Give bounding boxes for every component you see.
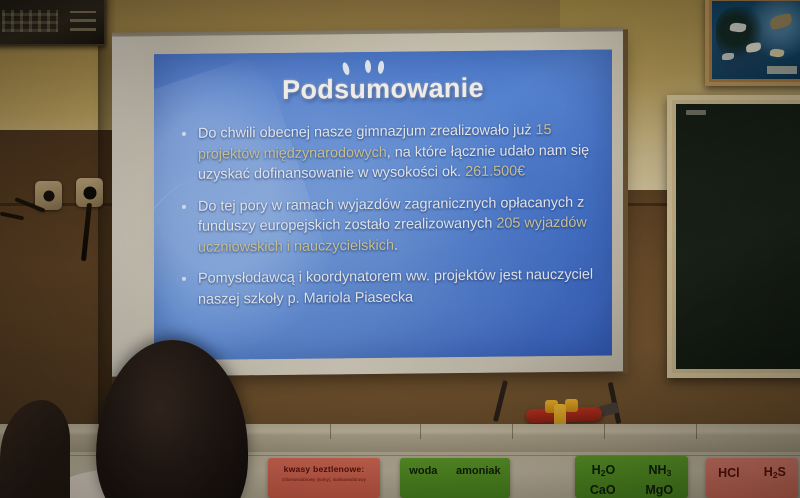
presentation-slide: Podsumowanie Do chwili obecnej nasze gim… <box>154 49 612 360</box>
panel-text-block <box>70 11 96 31</box>
chem-label-woda: woda <box>409 465 437 477</box>
desk-seam <box>330 424 331 439</box>
chem-poster-row-1: H2O NH3 <box>575 456 688 478</box>
chem-formula-h2o: H2O <box>592 463 616 478</box>
chem-formula-nh3: NH3 <box>649 463 672 478</box>
projection-screen: Podsumowanie Do chwili obecnej nasze gim… <box>112 31 624 376</box>
chem-poster-kwasy-beztlenowe: kwasy beztlenowe: chlorowodorowy (solny)… <box>268 458 380 498</box>
desk-seam <box>604 424 605 439</box>
fish-icon <box>722 53 734 60</box>
slide-bullet-1: Do chwili obecnej nasze gimnazjum zreali… <box>176 120 594 186</box>
slide-text-highlight: 261.500€ <box>465 163 525 180</box>
wall-display-panel <box>0 0 106 46</box>
chem-poster-subtext: chlorowodorowy (solny), siarkowodorowy <box>268 474 380 483</box>
slide-text-run: Do chwili obecnej nasze gimnazjum zreali… <box>198 122 536 142</box>
chem-formula-hcl: HCl <box>718 466 740 480</box>
chem-poster-kwasy-formuly: HCl H2S <box>706 458 798 498</box>
blackboard-clip <box>686 110 706 115</box>
blackboard-surface <box>676 104 800 369</box>
chem-formula-h2s: H2S <box>764 465 786 480</box>
chem-poster-row-2: CaO MgO <box>575 478 688 497</box>
aquarium-poster-image <box>712 1 800 79</box>
chem-formula-mgo: MgO <box>645 483 673 497</box>
chem-poster-woda-amoniak: woda amoniak <box>400 458 510 498</box>
socket-hole-icon <box>83 187 96 200</box>
retort-stand-clamp <box>518 396 610 426</box>
fish-icon <box>769 48 784 58</box>
socket-hole-icon <box>43 191 54 202</box>
chem-poster-row-1: HCl H2S <box>706 458 798 480</box>
slide-bullet-2: Do tej pory w ramach wyjazdów zagraniczn… <box>176 192 594 258</box>
slide-title: Podsumowanie <box>154 71 612 107</box>
blackboard <box>667 95 800 378</box>
wall-panel-left <box>0 130 112 430</box>
chem-poster-row: woda amoniak <box>400 458 510 477</box>
classroom-photo-scene: Podsumowanie Do chwili obecnej nasze gim… <box>0 0 800 498</box>
chem-poster-tlenki: H2O NH3 CaO MgO <box>575 456 688 498</box>
desk-seam <box>696 424 697 439</box>
fish-icon <box>769 13 793 30</box>
chem-poster-heading: kwasy beztlenowe: <box>268 458 380 474</box>
slide-bullet-3: Pomysłodawcą i koordynatorem ww. projekt… <box>176 265 594 310</box>
fish-icon <box>746 42 762 53</box>
panel-grid-icon <box>2 10 58 32</box>
clamp-knob-icon <box>565 399 578 412</box>
chem-formula-cao: CaO <box>590 483 616 497</box>
aquarium-poster <box>705 0 800 86</box>
slide-text-run: . <box>394 237 398 253</box>
poster-caption-strip <box>767 66 797 74</box>
chem-label-amoniak: amoniak <box>456 465 501 477</box>
desk-seam <box>512 424 513 439</box>
slide-text-run: Pomysłodawcą i koordynatorem ww. projekt… <box>198 267 593 308</box>
desk-seam <box>420 424 421 439</box>
slide-bullet-list: Do chwili obecnej nasze gimnazjum zreali… <box>176 120 594 321</box>
